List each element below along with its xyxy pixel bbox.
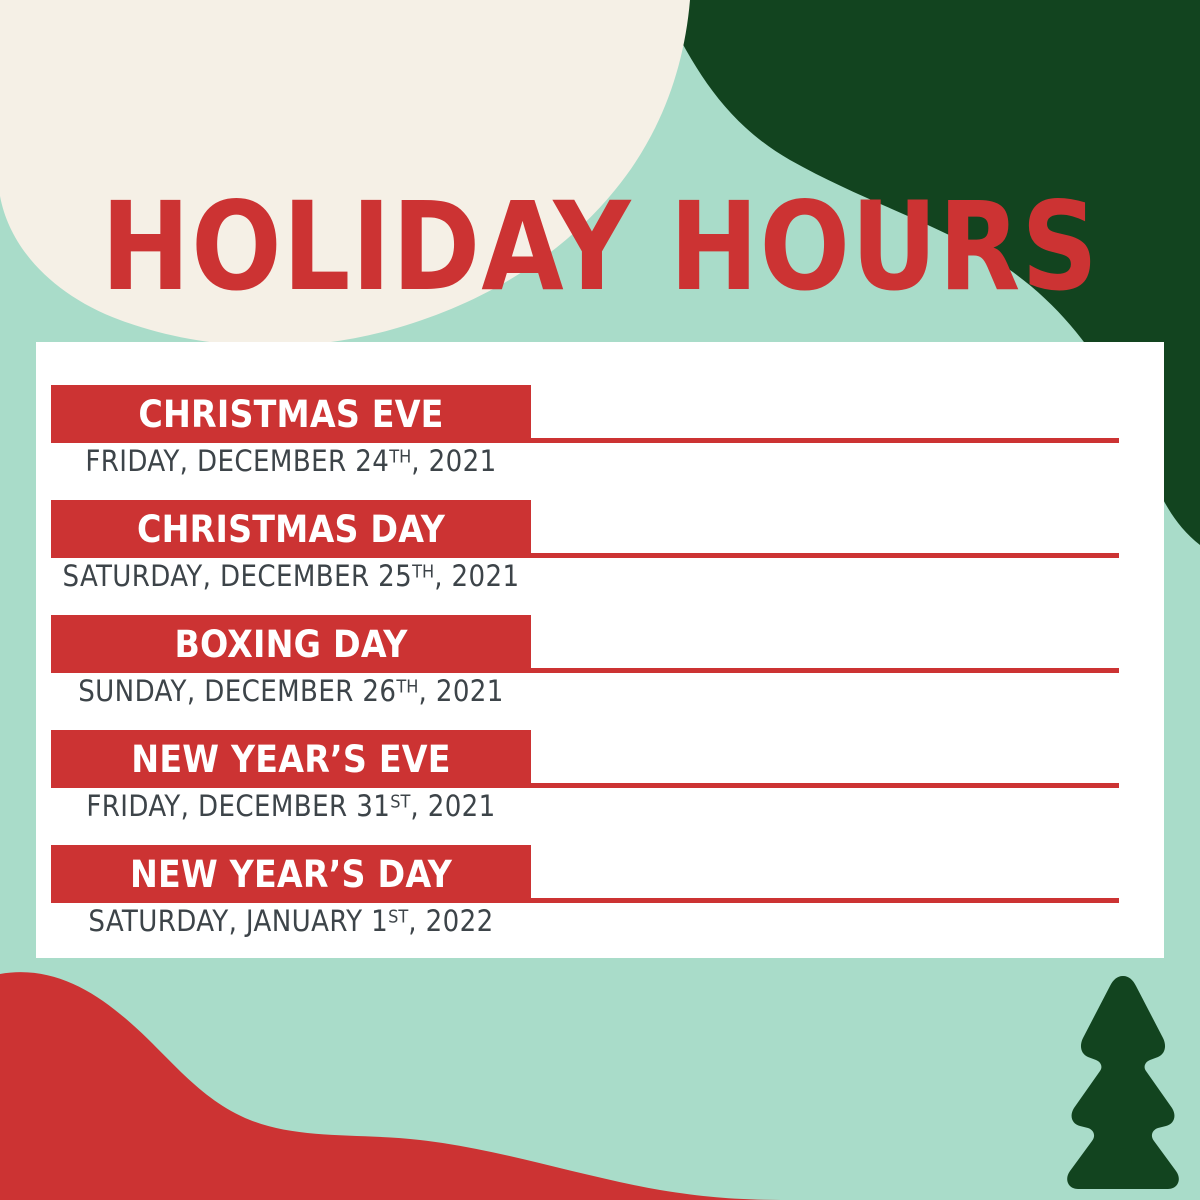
holiday-name: BOXING DAY: [174, 626, 407, 663]
holiday-date-ordinal: TH: [396, 676, 418, 697]
holiday-date: FRIDAY, DECEMBER 24TH, 2021: [51, 446, 531, 478]
holiday-date-prefix: SATURDAY, JANUARY 1: [88, 904, 388, 938]
holiday-date-suffix: , 2022: [408, 904, 493, 938]
holiday-date: SATURDAY, JANUARY 1ST, 2022: [51, 906, 531, 938]
schedule-row: NEW YEAR’S EVE FRIDAY, DECEMBER 31ST, 20…: [36, 717, 1164, 832]
holiday-name: CHRISTMAS DAY: [137, 511, 445, 548]
hours-write-in-line[interactable]: [531, 668, 1119, 673]
holiday-hours-poster: HOLIDAY HOURS CHRISTMAS EVE FRIDAY, DECE…: [0, 0, 1200, 1200]
holiday-name: NEW YEAR’S EVE: [131, 741, 450, 778]
holiday-banner: NEW YEAR’S DAY: [51, 845, 531, 903]
page-title: HOLIDAY HOURS: [18, 186, 1182, 308]
hours-write-in-line[interactable]: [531, 783, 1119, 788]
hours-write-in-line[interactable]: [531, 438, 1119, 443]
holiday-date-suffix: , 2021: [411, 444, 496, 478]
holiday-date: SUNDAY, DECEMBER 26TH, 2021: [51, 676, 531, 708]
holiday-date-ordinal: ST: [390, 791, 410, 812]
holiday-date: FRIDAY, DECEMBER 31ST, 2021: [51, 791, 531, 823]
holiday-date-suffix: , 2021: [410, 789, 495, 823]
holiday-date-prefix: SUNDAY, DECEMBER 26: [78, 674, 396, 708]
holiday-date-prefix: SATURDAY, DECEMBER 25: [62, 559, 412, 593]
holiday-banner: CHRISTMAS EVE: [51, 385, 531, 443]
holiday-date-ordinal: TH: [412, 561, 434, 582]
holiday-date-prefix: FRIDAY, DECEMBER 24: [85, 444, 389, 478]
hours-write-in-line[interactable]: [531, 898, 1119, 903]
schedule-row: NEW YEAR’S DAY SATURDAY, JANUARY 1ST, 20…: [36, 832, 1164, 947]
schedule-row: CHRISTMAS DAY SATURDAY, DECEMBER 25TH, 2…: [36, 487, 1164, 602]
holiday-name: NEW YEAR’S DAY: [130, 856, 452, 893]
schedule-rows: CHRISTMAS EVE FRIDAY, DECEMBER 24TH, 202…: [36, 342, 1164, 958]
holiday-date: SATURDAY, DECEMBER 25TH, 2021: [51, 561, 531, 593]
hours-write-in-line[interactable]: [531, 553, 1119, 558]
schedule-row: BOXING DAY SUNDAY, DECEMBER 26TH, 2021: [36, 602, 1164, 717]
holiday-date-ordinal: ST: [388, 906, 408, 927]
holiday-banner: BOXING DAY: [51, 615, 531, 673]
holiday-date-suffix: , 2021: [418, 674, 503, 708]
holiday-date-prefix: FRIDAY, DECEMBER 31: [86, 789, 390, 823]
holiday-banner: NEW YEAR’S EVE: [51, 730, 531, 788]
holiday-date-ordinal: TH: [389, 446, 411, 467]
schedule-card: CHRISTMAS EVE FRIDAY, DECEMBER 24TH, 202…: [36, 342, 1164, 958]
holiday-banner: CHRISTMAS DAY: [51, 500, 531, 558]
holiday-date-suffix: , 2021: [434, 559, 519, 593]
schedule-row: CHRISTMAS EVE FRIDAY, DECEMBER 24TH, 202…: [36, 372, 1164, 487]
holiday-name: CHRISTMAS EVE: [138, 396, 443, 433]
